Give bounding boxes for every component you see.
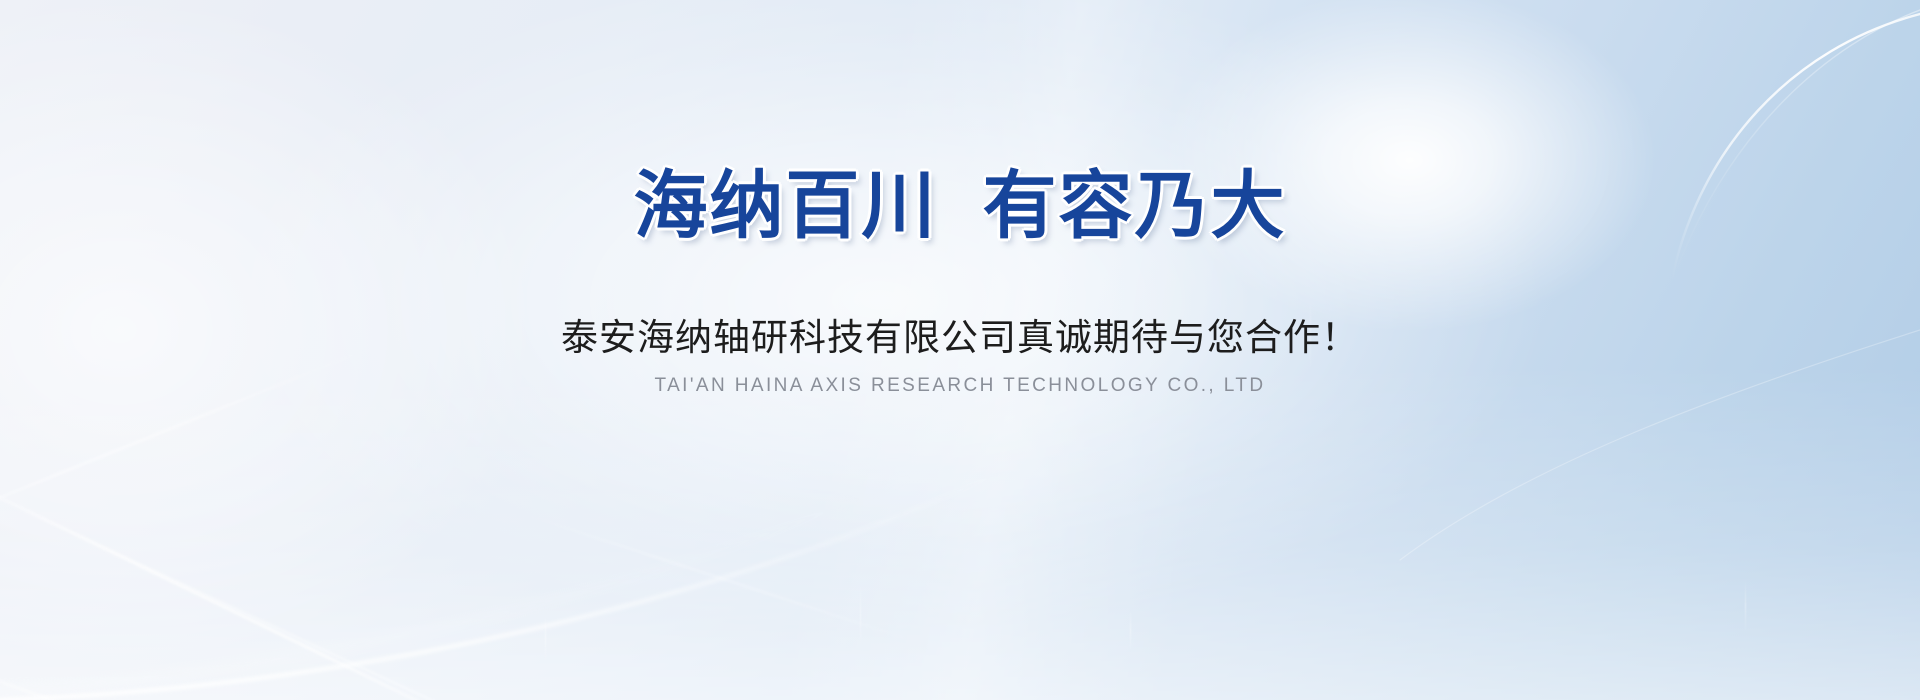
banner-subtitle-chinese: 泰安海纳轴研科技有限公司真诚期待与您合作！ bbox=[561, 315, 1359, 361]
banner-content: 海纳百川 有容乃大 泰安海纳轴研科技有限公司真诚期待与您合作！ TAI'AN H… bbox=[0, 0, 1920, 700]
banner-subtitle-english: TAI'AN HAINA AXIS RESEARCH TECHNOLOGY CO… bbox=[655, 375, 1266, 398]
hero-banner: 海纳百川 有容乃大 泰安海纳轴研科技有限公司真诚期待与您合作！ TAI'AN H… bbox=[0, 0, 1920, 700]
banner-headline: 海纳百川 有容乃大 bbox=[633, 168, 1286, 245]
